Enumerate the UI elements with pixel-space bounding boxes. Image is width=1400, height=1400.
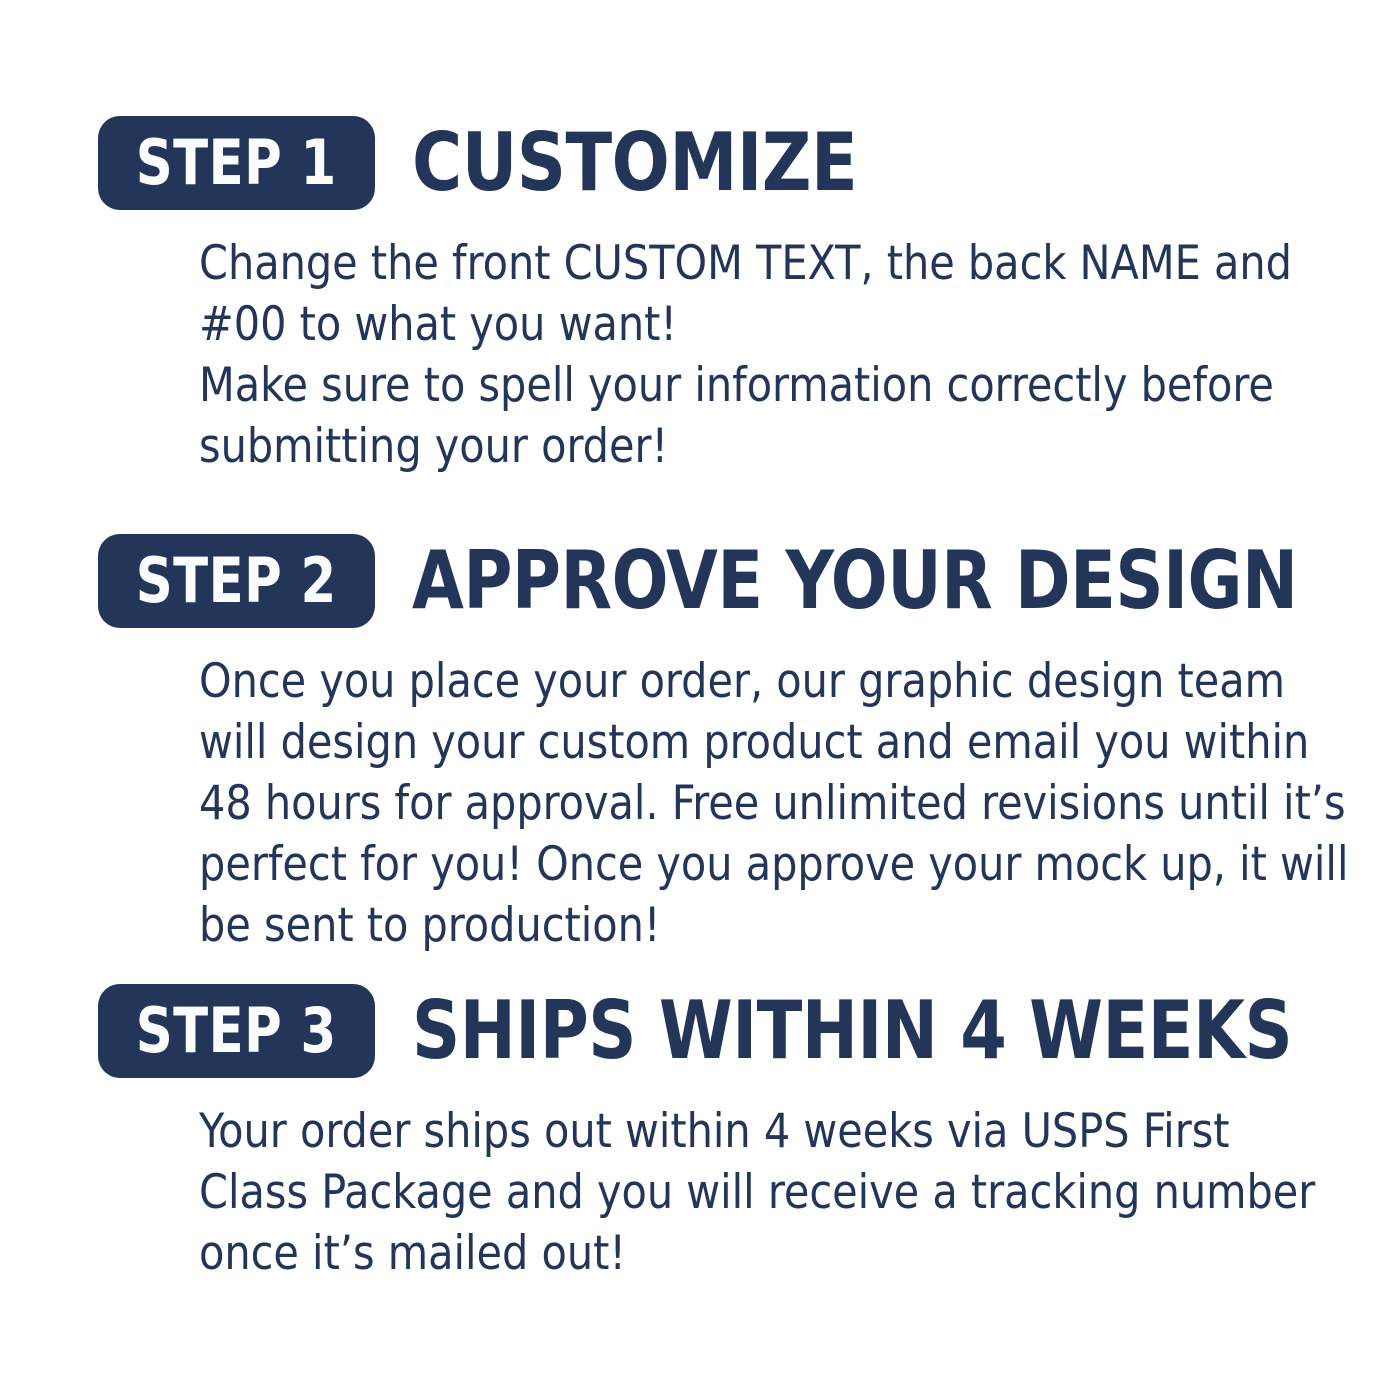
step-title-3: SHIPS WITHIN 4 WEEKS: [412, 991, 1292, 1071]
step-body-line: Your order ships out within 4 weeks via …: [199, 1101, 1238, 1162]
step-badge-label-1: STEP 1: [136, 132, 337, 194]
step-body-line: will design your custom product and emai…: [199, 712, 1238, 773]
step-badge-3: STEP 3: [98, 984, 375, 1078]
step-title-1: CUSTOMIZE: [412, 123, 857, 203]
step-body-line: Make sure to spell your information corr…: [199, 355, 1238, 416]
step-body-line: #00 to what you want!: [199, 294, 1238, 355]
step-body-line: Class Package and you will receive a tra…: [199, 1162, 1238, 1223]
step-body-2: Once you place your order, our graphic d…: [199, 651, 1238, 956]
step-block-3: STEP 3 SHIPS WITHIN 4 WEEKS Your order s…: [0, 983, 1400, 1079]
step-body-line: once it’s mailed out!: [199, 1223, 1238, 1284]
step-body-line: Once you place your order, our graphic d…: [199, 651, 1238, 712]
step-badge-1: STEP 1: [98, 116, 375, 210]
step-header-1: STEP 1 CUSTOMIZE: [0, 115, 1400, 211]
step-body-line: submitting your order!: [199, 416, 1238, 477]
step-header-2: STEP 2 APPROVE YOUR DESIGN: [0, 533, 1400, 629]
step-block-2: STEP 2 APPROVE YOUR DESIGN Once you plac…: [0, 533, 1400, 629]
instructions-page: STEP 1 CUSTOMIZE Change the front CUSTOM…: [0, 0, 1400, 1400]
step-title-2: APPROVE YOUR DESIGN: [412, 541, 1298, 621]
step-badge-2: STEP 2: [98, 534, 375, 628]
step-body-line: be sent to production!: [199, 895, 1238, 956]
step-body-line: Change the front CUSTOM TEXT, the back N…: [199, 233, 1238, 294]
step-body-1: Change the front CUSTOM TEXT, the back N…: [199, 233, 1238, 477]
step-badge-label-2: STEP 2: [136, 550, 337, 612]
step-body-3: Your order ships out within 4 weeks via …: [199, 1101, 1238, 1284]
step-block-1: STEP 1 CUSTOMIZE Change the front CUSTOM…: [0, 115, 1400, 211]
step-body-line: perfect for you! Once you approve your m…: [199, 834, 1238, 895]
step-badge-label-3: STEP 3: [136, 1000, 337, 1062]
step-header-3: STEP 3 SHIPS WITHIN 4 WEEKS: [0, 983, 1400, 1079]
step-body-line: 48 hours for approval. Free unlimited re…: [199, 773, 1238, 834]
